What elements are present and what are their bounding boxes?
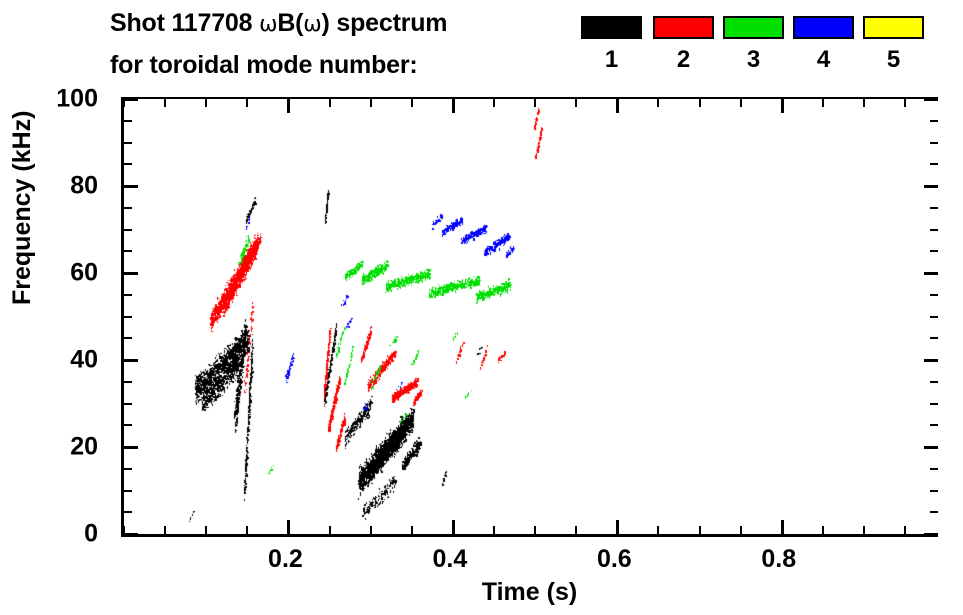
x-tick-top-minor-0.75 [740, 99, 742, 107]
legend-label-4: 4 [793, 46, 854, 74]
y-tick-right-major-100 [924, 98, 938, 101]
x-tick-minor-0.1 [205, 526, 207, 534]
x-tick-minor-0.85 [822, 526, 824, 534]
x-tick-major-0.8 [781, 520, 784, 534]
x-tick-minor-0.35 [411, 526, 413, 534]
y-tick-major-100 [124, 98, 138, 101]
legend-label-3: 3 [723, 46, 784, 74]
x-tick-minor-0.75 [740, 526, 742, 534]
y-tick-minor-45 [124, 337, 132, 339]
x-tick-minor-0 [123, 526, 125, 534]
y-tick-right-major-80 [924, 185, 938, 188]
legend-label-2: 2 [653, 46, 714, 74]
y-tick-major-20 [124, 446, 138, 449]
legend-label-1: 1 [581, 46, 642, 74]
y-tick-minor-10 [124, 490, 132, 492]
legend-swatch-3 [723, 16, 784, 39]
y-tick-minor-70 [124, 229, 132, 231]
y-tick-right-major-60 [924, 272, 938, 275]
y-tick-right-minor-35 [930, 381, 938, 383]
x-tick-minor-0.55 [575, 526, 577, 534]
x-tick-minor-0.9 [863, 526, 865, 534]
y-tick-minor-35 [124, 381, 132, 383]
y-tick-right-minor-15 [930, 468, 938, 470]
x-axis-title: Time (s) [121, 578, 938, 607]
y-tick-label-80: 80 [70, 172, 98, 201]
x-tick-minor-0.95 [904, 526, 906, 534]
y-tick-right-minor-95 [930, 120, 938, 122]
y-tick-minor-55 [124, 294, 132, 296]
y-tick-right-minor-25 [930, 424, 938, 426]
x-tick-label-0.8: 0.8 [761, 545, 796, 574]
x-tick-top-minor-0.15 [246, 99, 248, 107]
y-tick-right-major-20 [924, 446, 938, 449]
y-tick-major-60 [124, 272, 138, 275]
y-tick-right-major-40 [924, 359, 938, 362]
y-tick-right-minor-50 [930, 316, 938, 318]
x-tick-top-minor-0.85 [822, 99, 824, 107]
x-tick-label-0.4: 0.4 [432, 545, 467, 574]
y-tick-right-minor-10 [930, 490, 938, 492]
x-tick-top-minor-0.55 [575, 99, 577, 107]
x-tick-top-minor-0 [123, 99, 125, 107]
y-tick-right-minor-30 [930, 403, 938, 405]
legend: 12345 [0, 0, 963, 92]
y-tick-label-60: 60 [70, 259, 98, 288]
x-tick-minor-0.65 [657, 526, 659, 534]
y-tick-label-40: 40 [70, 346, 98, 375]
y-tick-right-minor-90 [930, 142, 938, 144]
legend-item-1[interactable]: 1 [581, 16, 642, 39]
legend-item-5[interactable]: 5 [863, 16, 924, 39]
x-tick-minor-0.3 [370, 526, 372, 534]
x-tick-top-minor-0.25 [329, 99, 331, 107]
y-tick-right-minor-70 [930, 229, 938, 231]
x-tick-top-major-0.4 [452, 99, 455, 113]
y-tick-minor-25 [124, 424, 132, 426]
x-tick-top-major-0.8 [781, 99, 784, 113]
y-tick-major-0 [124, 533, 138, 536]
x-tick-top-minor-0.7 [699, 99, 701, 107]
y-tick-minor-90 [124, 142, 132, 144]
y-tick-label-20: 20 [70, 433, 98, 462]
legend-label-5: 5 [863, 46, 924, 74]
x-tick-label-0.6: 0.6 [597, 545, 632, 574]
y-tick-label-100: 100 [56, 85, 98, 114]
legend-item-3[interactable]: 3 [723, 16, 784, 39]
x-axis-tick-labels: 0.20.40.60.8 [121, 545, 938, 579]
legend-swatch-1 [581, 16, 642, 39]
legend-item-2[interactable]: 2 [653, 16, 714, 39]
legend-swatch-2 [653, 16, 714, 39]
x-tick-top-minor-0.05 [164, 99, 166, 107]
y-tick-minor-65 [124, 250, 132, 252]
y-tick-right-minor-5 [930, 511, 938, 513]
x-tick-top-minor-0.5 [534, 99, 536, 107]
y-tick-label-0: 0 [84, 520, 98, 549]
y-tick-right-minor-75 [930, 207, 938, 209]
y-tick-right-minor-85 [930, 163, 938, 165]
x-tick-minor-0.15 [246, 526, 248, 534]
legend-swatch-4 [793, 16, 854, 39]
x-tick-top-minor-0.95 [904, 99, 906, 107]
y-tick-right-minor-55 [930, 294, 938, 296]
spectrogram-canvas [124, 99, 938, 534]
x-tick-top-minor-0.1 [205, 99, 207, 107]
y-tick-minor-50 [124, 316, 132, 318]
x-tick-major-0.4 [452, 520, 455, 534]
y-axis-title-wrap: Frequency (kHz) [22, 99, 52, 534]
x-tick-minor-0.7 [699, 526, 701, 534]
x-tick-minor-0.5 [534, 526, 536, 534]
x-tick-major-0.6 [616, 520, 619, 534]
x-tick-top-minor-0.65 [657, 99, 659, 107]
y-tick-major-40 [124, 359, 138, 362]
y-tick-right-minor-65 [930, 250, 938, 252]
y-tick-minor-30 [124, 403, 132, 405]
plot-area [121, 99, 938, 537]
x-tick-top-minor-0.3 [370, 99, 372, 107]
y-axis-title: Frequency (kHz) [8, 111, 37, 305]
x-tick-major-0.2 [287, 520, 290, 534]
y-tick-minor-85 [124, 163, 132, 165]
y-tick-minor-75 [124, 207, 132, 209]
y-tick-minor-95 [124, 120, 132, 122]
x-tick-top-major-0.6 [616, 99, 619, 113]
legend-swatch-5 [863, 16, 924, 39]
legend-item-4[interactable]: 4 [793, 16, 854, 39]
x-tick-minor-0.45 [493, 526, 495, 534]
y-tick-minor-5 [124, 511, 132, 513]
x-tick-top-minor-0.35 [411, 99, 413, 107]
x-tick-top-minor-0.9 [863, 99, 865, 107]
x-tick-label-0.2: 0.2 [268, 545, 303, 574]
y-tick-major-80 [124, 185, 138, 188]
x-tick-minor-0.25 [329, 526, 331, 534]
x-tick-top-minor-0.45 [493, 99, 495, 107]
y-tick-minor-15 [124, 468, 132, 470]
y-tick-right-minor-45 [930, 337, 938, 339]
y-tick-right-major-0 [924, 533, 938, 536]
x-tick-minor-0.05 [164, 526, 166, 534]
x-tick-top-major-0.2 [287, 99, 290, 113]
